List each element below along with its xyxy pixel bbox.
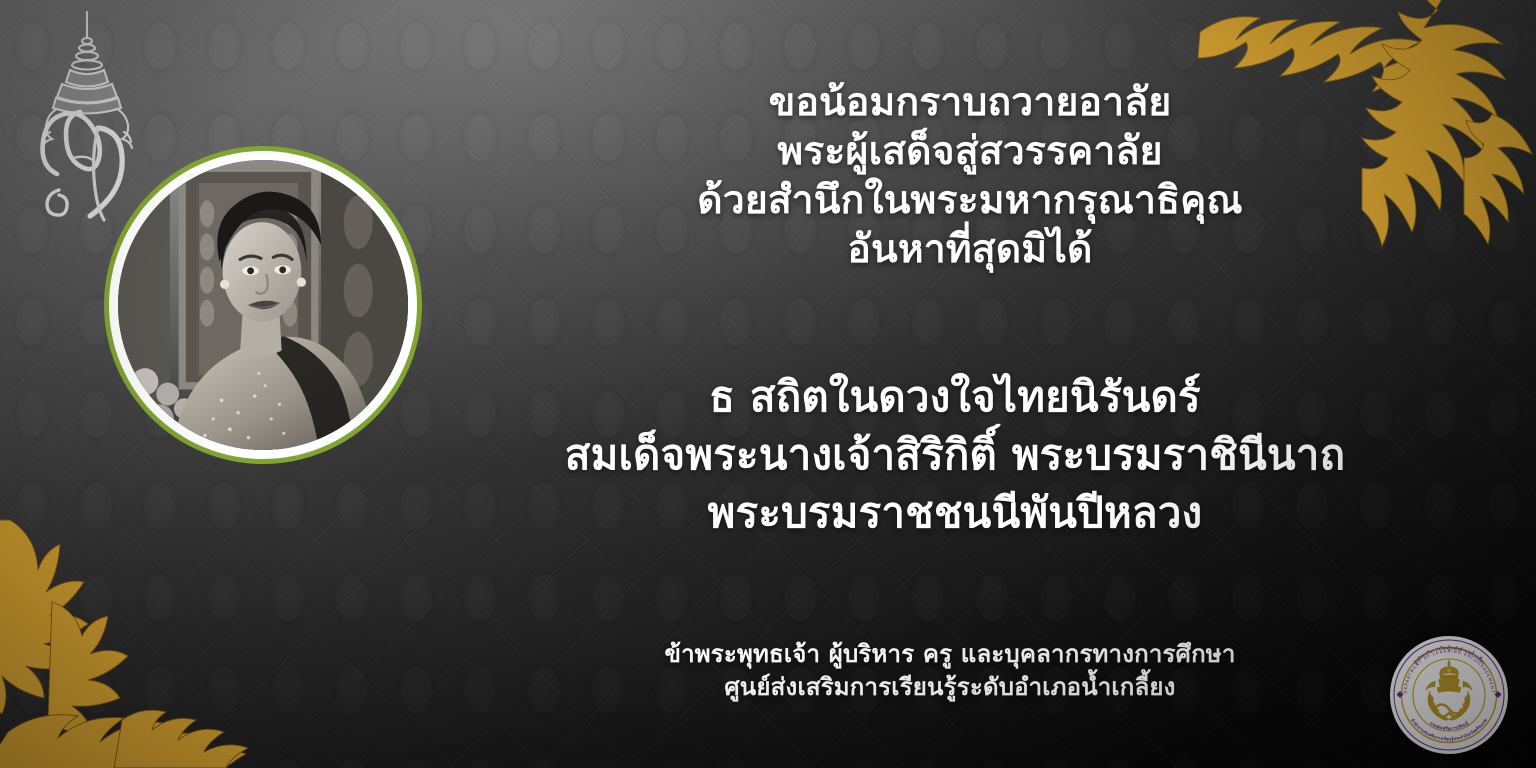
message-line: ขอน้อมกราบถวายอาลัย bbox=[470, 78, 1470, 127]
seal-emblem-icon: ศูนย์ส่งเสริมการเรียนรู้ระดับอำเภอน้ำเกล… bbox=[1390, 636, 1508, 754]
message-line: อันหาที่สุดมิได้ bbox=[470, 225, 1470, 274]
gold-corner-ornament-bottom-left-icon bbox=[0, 506, 328, 768]
royal-title-message: ธ สถิตในดวงใจไทยนิรันดร์ สมเด็จพระนางเจ้… bbox=[440, 368, 1470, 542]
portrait-ring-inner bbox=[109, 151, 417, 459]
organization-seal: ศูนย์ส่งเสริมการเรียนรู้ระดับอำเภอน้ำเกล… bbox=[1390, 636, 1508, 754]
signatory-line: ข้าพระพุทธเจ้า ผู้บริหาร ครู และบุคลากรท… bbox=[430, 638, 1470, 671]
royal-title-line: สมเด็จพระนางเจ้าสิริกิติ์ พระบรมราชินีนา… bbox=[440, 426, 1470, 484]
portrait-photo-queen bbox=[118, 160, 408, 450]
condolence-primary-message: ขอน้อมกราบถวายอาลัย พระผู้เสด็จสู่สวรรคา… bbox=[470, 78, 1470, 274]
signatory-line: ศูนย์ส่งเสริมการเรียนรู้ระดับอำเภอน้ำเกล… bbox=[430, 671, 1470, 704]
memorial-banner: ขอน้อมกราบถวายอาลัย พระผู้เสด็จสู่สวรรคา… bbox=[0, 0, 1536, 768]
portrait-ring-outer bbox=[104, 146, 422, 464]
message-line: ด้วยสำนึกในพระมหากรุณาธิคุณ bbox=[470, 176, 1470, 225]
signatory-message: ข้าพระพุทธเจ้า ผู้บริหาร ครู และบุคลากรท… bbox=[430, 638, 1470, 704]
royal-title-line: ธ สถิตในดวงใจไทยนิรันดร์ bbox=[440, 368, 1470, 426]
royal-title-line: พระบรมราชชนนีพันปีหลวง bbox=[440, 484, 1470, 542]
message-line: พระผู้เสด็จสู่สวรรคาลัย bbox=[470, 127, 1470, 176]
